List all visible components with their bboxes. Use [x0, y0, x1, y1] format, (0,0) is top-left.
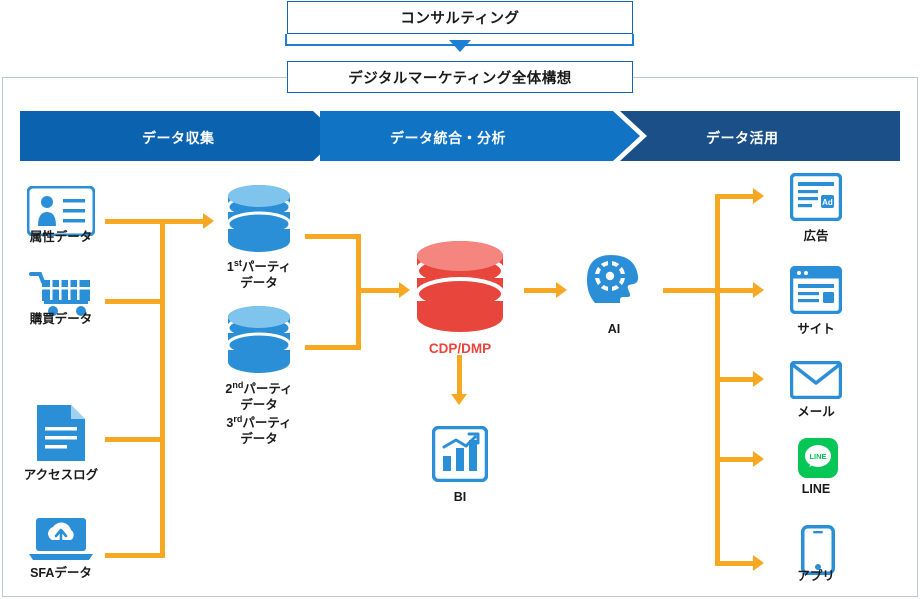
connector-attr-to-bus — [105, 219, 165, 224]
ad-banner-icon: Ad — [790, 173, 842, 226]
third-party-line3-suffix: パーティ — [242, 416, 291, 430]
third-party-ordinal: 3rd — [226, 416, 242, 430]
phase-label-integrate: データ統合・分析 — [390, 128, 506, 148]
document-icon — [34, 403, 88, 468]
concept-label: デジタルマーケティング全体構想 — [348, 67, 572, 88]
down-arrow-icon — [449, 40, 471, 52]
website-icon — [790, 266, 842, 319]
connector-branch-line — [715, 457, 755, 462]
connector-sfa-to-bus — [105, 553, 165, 558]
source-label-attribute: 属性データ — [6, 230, 116, 246]
second-third-party-data-label: 2ndパーティ データ 3rdパーティ データ — [199, 380, 319, 447]
arrowhead-to-cdp — [399, 282, 410, 298]
first-party-line1-suffix: パーティ — [242, 260, 291, 274]
database-cylinder-second-party-icon — [223, 303, 295, 380]
second-party-line2: データ — [240, 398, 278, 412]
arrowhead-to-ai — [556, 282, 567, 298]
connector-cdp-to-ai — [524, 288, 558, 293]
mail-icon — [790, 361, 842, 404]
first-party-line2: データ — [240, 276, 278, 290]
cdp-dmp-label: CDP/DMP — [400, 341, 520, 358]
diagram-canvas: コンサルティング デジタルマーケティング全体構想 データ収集 データ統合・分析 … — [0, 0, 920, 599]
source-label-sfa: SFAデータ — [6, 566, 116, 582]
phase-label-utilize: データ活用 — [706, 128, 779, 148]
output-label-mail: メール — [776, 405, 856, 421]
output-label-line: LINE — [776, 482, 856, 498]
arrowhead-ad — [753, 188, 764, 204]
concept-box: デジタルマーケティング全体構想 — [287, 61, 633, 93]
connector-branch-mail — [715, 377, 755, 382]
output-label-site: サイト — [776, 322, 856, 338]
bi-label: BI — [420, 490, 500, 506]
ai-head-gear-icon — [583, 248, 645, 315]
bi-chart-icon — [432, 426, 488, 487]
connector-first-party-out — [305, 234, 360, 239]
connector-ai-to-right-bus — [663, 288, 718, 293]
arrowhead-app — [753, 555, 764, 571]
output-label-ad: 広告 — [776, 229, 856, 245]
second-party-line1-suffix: パーティ — [243, 382, 292, 396]
line-app-icon: LINE — [798, 438, 838, 483]
connector-branch-app — [715, 561, 755, 566]
arrowhead-line — [753, 451, 764, 467]
arrowhead-to-first-party — [203, 213, 214, 229]
third-party-line4: データ — [240, 432, 278, 446]
database-cylinder-first-party-icon — [223, 182, 295, 259]
connector-cdp-to-bi — [457, 355, 462, 396]
consulting-box: コンサルティング — [287, 1, 633, 34]
connector-second-party-out — [305, 345, 360, 350]
arrowhead-mail — [753, 371, 764, 387]
first-party-ordinal: 1st — [227, 260, 242, 274]
connector-party-to-cdp — [356, 288, 401, 293]
output-label-app: アプリ — [776, 569, 856, 585]
source-label-purchase: 購買データ — [6, 312, 116, 328]
phase-label-collect: データ収集 — [142, 128, 215, 148]
connector-bus-to-first-party — [160, 219, 205, 224]
connector-branch-ad — [715, 194, 755, 199]
laptop-cloud-icon — [27, 516, 95, 567]
svg-text:LINE: LINE — [809, 452, 826, 461]
arrowhead-to-bi — [451, 394, 467, 405]
connector-left-bus — [160, 219, 165, 558]
connector-accesslog-to-bus — [105, 437, 165, 442]
connector-branch-site — [715, 288, 755, 293]
source-label-accesslog: アクセスログ — [0, 468, 122, 484]
ai-label: AI — [574, 322, 654, 338]
consulting-label: コンサルティング — [400, 7, 519, 28]
second-party-ordinal: 2nd — [225, 382, 243, 396]
svg-text:Ad: Ad — [822, 198, 833, 207]
arrowhead-site — [753, 282, 764, 298]
first-party-data-label: 1stパーティ データ — [199, 258, 319, 292]
connector-purchase-to-bus — [105, 299, 165, 304]
phase-band: データ収集 データ統合・分析 データ活用 — [20, 111, 900, 161]
cdp-dmp-cylinder-icon — [412, 237, 508, 338]
